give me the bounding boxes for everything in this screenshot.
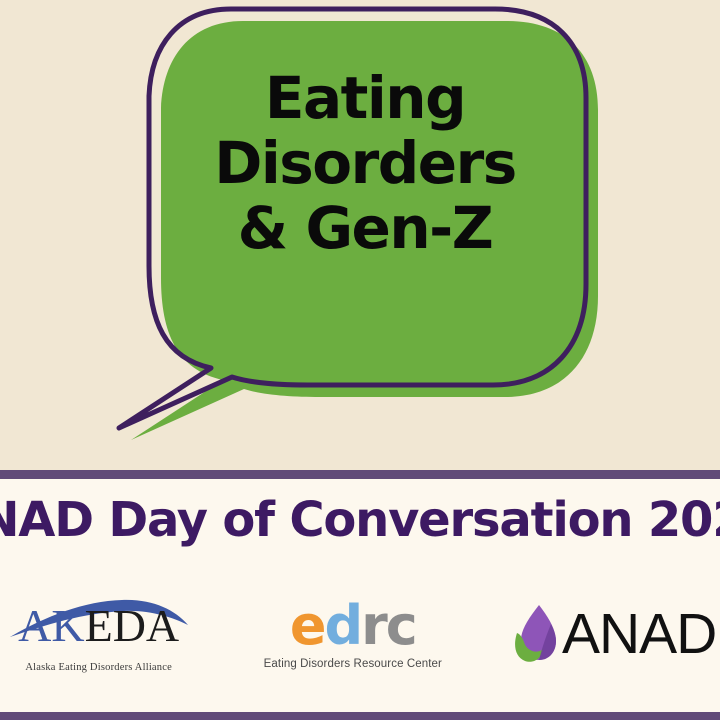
section-divider (0, 470, 720, 479)
akeda-wordmark: AKEDA (4, 603, 194, 649)
footer-section: ANAD Day of Conversation 2023 AKEDA Alas… (0, 479, 720, 712)
akeda-mark: AKEDA (4, 595, 194, 661)
edrc-letter-e: e (290, 594, 325, 657)
anad-flame-leaf-icon (512, 603, 558, 665)
logo-akeda[interactable]: AKEDA Alaska Eating Disorders Alliance (4, 595, 194, 673)
logo-anad[interactable]: ANAD (512, 603, 716, 665)
speech-bubble: Eating Disorders & Gen-Z (95, 0, 635, 458)
anad-wordmark: ANAD (562, 606, 716, 663)
speech-bubble-graphic (95, 0, 635, 458)
logo-edrc[interactable]: edrc Eating Disorders Resource Center (264, 599, 442, 670)
akeda-subtitle: Alaska Eating Disorders Alliance (25, 662, 172, 673)
edrc-letters-rc: rc (361, 594, 416, 657)
hero-section: Eating Disorders & Gen-Z (0, 0, 720, 470)
edrc-letter-d: d (324, 594, 361, 657)
bottom-accent-bar (0, 712, 720, 720)
poster-canvas: Eating Disorders & Gen-Z ANAD Day of Con… (0, 0, 720, 720)
anad-mark: ANAD (512, 603, 716, 665)
edrc-subtitle: Eating Disorders Resource Center (264, 658, 442, 670)
akeda-wordmark-eda: EDA (85, 600, 180, 651)
event-title: ANAD Day of Conversation 2023 (0, 493, 720, 548)
akeda-wordmark-ak: AK (18, 600, 84, 651)
edrc-wordmark: edrc (290, 599, 416, 653)
partner-logo-row: AKEDA Alaska Eating Disorders Alliance e… (0, 579, 720, 689)
